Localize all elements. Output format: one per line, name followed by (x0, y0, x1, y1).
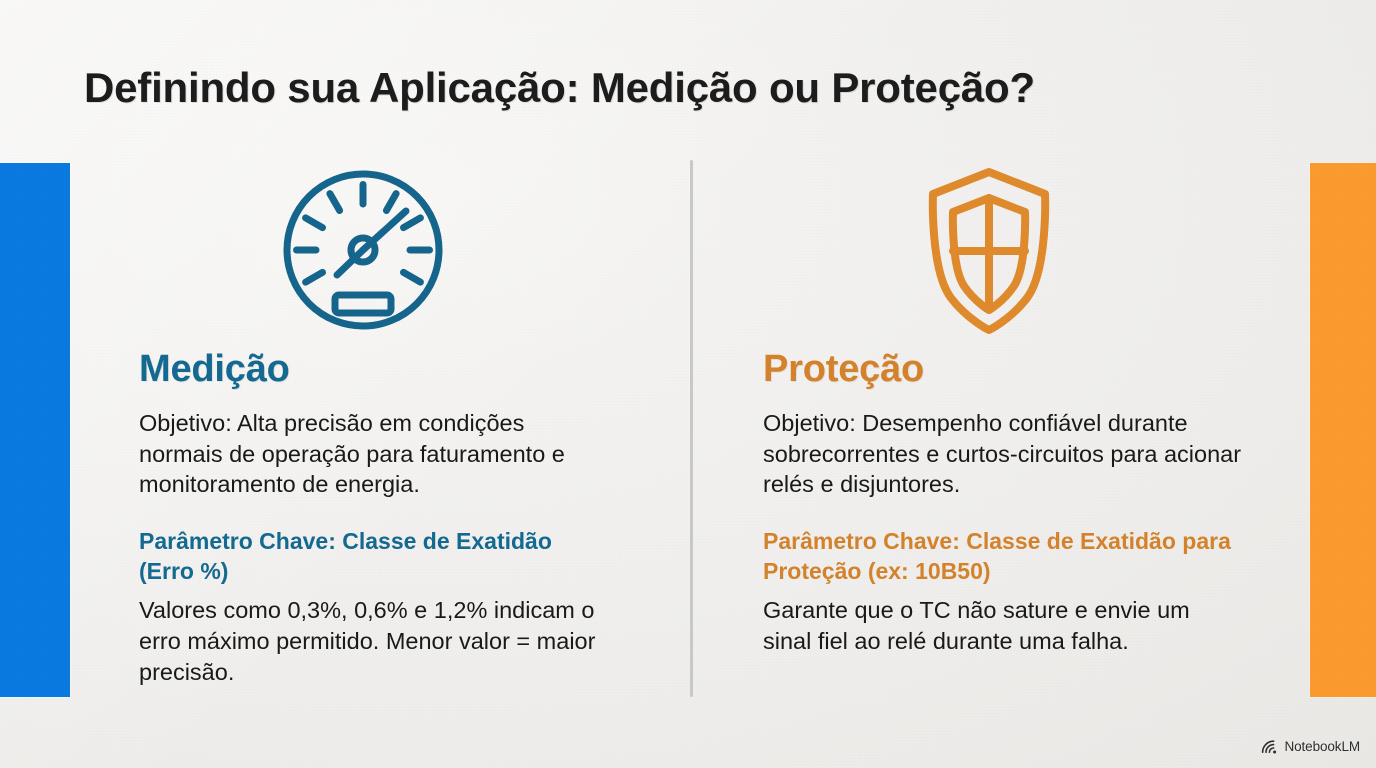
shield-icon-wrapper (763, 150, 1243, 350)
column-medicao: Medição Objetivo: Alta precisão em condi… (139, 150, 609, 687)
notebooklm-logo-icon (1261, 739, 1278, 754)
heading-protecao: Proteção (763, 350, 1243, 390)
detail-medicao: Valores como 0,3%, 0,6% e 1,2% indicam o… (139, 595, 609, 687)
shield-icon (903, 160, 1075, 340)
heading-medicao: Medição (139, 350, 609, 390)
left-accent-bar (0, 163, 70, 697)
detail-protecao: Garante que o TC não sature e envie um s… (763, 595, 1243, 657)
parameter-label-medicao: Parâmetro Chave: Classe de Exatidão (Err… (139, 527, 609, 587)
slide-canvas: Definindo sua Aplicação: Medição ou Prot… (0, 0, 1376, 768)
right-accent-bar (1310, 163, 1376, 697)
gauge-icon (279, 165, 447, 335)
notebooklm-watermark: NotebookLM (1261, 739, 1360, 754)
objective-medicao: Objetivo: Alta precisão em condições nor… (139, 408, 609, 500)
page-title: Definindo sua Aplicação: Medição ou Prot… (84, 64, 1035, 112)
parameter-label-protecao: Parâmetro Chave: Classe de Exatidão para… (763, 527, 1243, 587)
column-protecao: Proteção Objetivo: Desempenho confiável … (763, 150, 1243, 657)
gauge-icon-wrapper (139, 150, 609, 350)
column-divider (690, 160, 693, 697)
watermark-label: NotebookLM (1284, 739, 1360, 754)
objective-protecao: Objetivo: Desempenho confiável durante s… (763, 408, 1243, 500)
